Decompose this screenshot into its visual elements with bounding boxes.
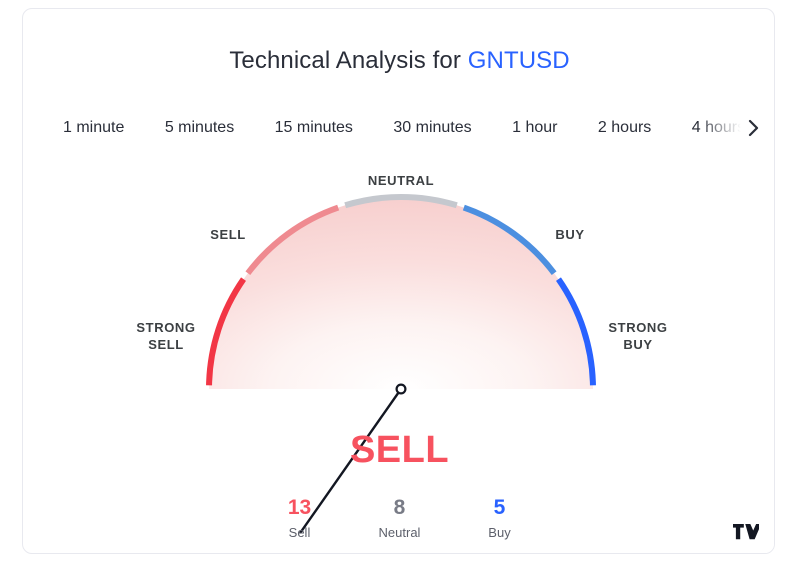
rating-counters: 13 Sell 8 Neutral 5 Buy	[23, 495, 775, 543]
counter-buy: 5 Buy	[450, 495, 550, 543]
counter-sell-label: Sell	[250, 523, 350, 543]
symbol-name[interactable]: GNTUSD	[468, 47, 570, 74]
tab-2-hours[interactable]: 2 hours	[580, 105, 669, 151]
gauge-label-neutral: NEUTRAL	[346, 172, 456, 189]
technical-analysis-widget-card: Technical Analysis for GNTUSD 1 minute 5…	[22, 8, 775, 554]
counter-neutral-value: 8	[350, 495, 450, 521]
gauge-segment-strong-sell	[209, 279, 243, 385]
gauge-segment-sell	[248, 208, 338, 274]
technical-rating-gauge: STRONG SELL SELL NEUTRAL BUY STRONG BUY	[23, 9, 775, 554]
counter-sell: 13 Sell	[250, 495, 350, 543]
chevron-right-icon[interactable]	[740, 105, 768, 151]
tab-15-minutes[interactable]: 15 minutes	[257, 105, 371, 151]
gauge-label-sell: SELL	[183, 226, 273, 243]
page-title: Technical Analysis for GNTUSD	[23, 47, 775, 75]
counter-neutral: 8 Neutral	[350, 495, 450, 543]
counter-sell-value: 13	[250, 495, 350, 521]
counter-buy-value: 5	[450, 495, 550, 521]
gauge-dial-fill	[209, 197, 593, 389]
gauge-arc-segments	[209, 197, 593, 385]
gauge-segment-buy	[464, 208, 554, 274]
tradingview-logo-icon[interactable]	[718, 511, 774, 553]
rating-verdict: SELL	[23, 429, 775, 472]
tab-30-minutes[interactable]: 30 minutes	[375, 105, 489, 151]
gauge-pivot	[397, 385, 406, 394]
gauge-segment-neutral	[345, 197, 457, 205]
gauge-segment-strong-buy	[558, 279, 592, 385]
gauge-label-strong-buy: STRONG BUY	[583, 319, 693, 353]
tab-1-hour[interactable]: 1 hour	[494, 105, 575, 151]
tab-1-minute[interactable]: 1 minute	[45, 105, 142, 151]
interval-tab-bar: 1 minute 5 minutes 15 minutes 30 minutes…	[23, 105, 775, 151]
page-title-prefix: Technical Analysis for	[229, 47, 461, 74]
counter-buy-label: Buy	[450, 523, 550, 543]
interval-tabs-strip: 1 minute 5 minutes 15 minutes 30 minutes…	[23, 105, 763, 151]
gauge-label-buy: BUY	[525, 226, 615, 243]
gauge-label-strong-sell: STRONG SELL	[111, 319, 221, 353]
tab-5-minutes[interactable]: 5 minutes	[147, 105, 252, 151]
counter-neutral-label: Neutral	[350, 523, 450, 543]
